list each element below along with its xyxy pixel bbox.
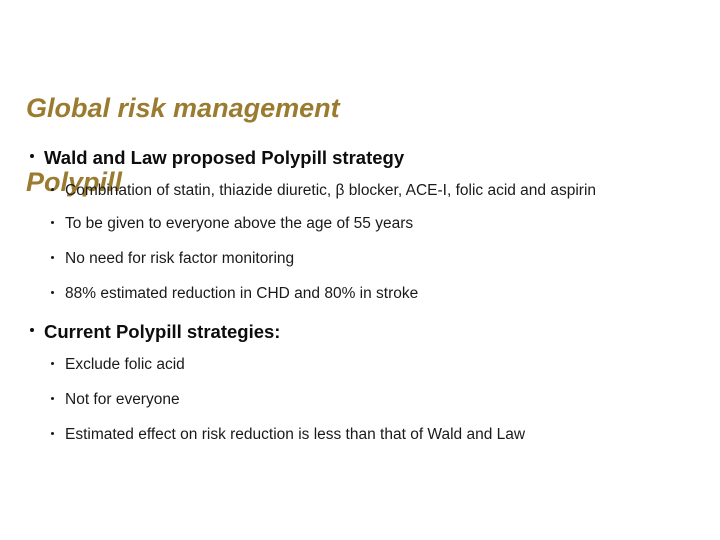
bullet-text: Combination of statin, thiazide diuretic…: [65, 182, 596, 199]
bullet-level2-age-55: To be given to everyone above the age of…: [0, 213, 720, 234]
bullet-level2-reduction-estimates: 88% estimated reduction in CHD and 80% i…: [0, 283, 720, 304]
bullet-dot-icon: [30, 154, 34, 158]
bullet-level2-combination: Combination of statin, thiazide diuretic…: [0, 180, 720, 201]
slide-body: Wald and Law proposed Polypill strategy …: [0, 146, 720, 459]
bullet-level2-not-for-everyone: Not for everyone: [0, 389, 720, 410]
bullet-level1-wald-and-law: Wald and Law proposed Polypill strategy: [0, 146, 720, 170]
bullet-dot-icon: [51, 291, 54, 294]
bullet-text: Current Polypill strategies:: [44, 321, 280, 342]
bullet-dot-icon: [51, 221, 54, 224]
bullet-level2-no-monitoring: No need for risk factor monitoring: [0, 248, 720, 269]
bullet-dot-icon: [51, 256, 54, 259]
bullet-level2-exclude-folic-acid: Exclude folic acid: [0, 354, 720, 375]
bullet-dot-icon: [51, 188, 54, 191]
bullet-text: Not for everyone: [65, 391, 180, 408]
slide-canvas: Global risk management Polypill Wald and…: [0, 0, 720, 540]
bullet-dot-icon: [51, 432, 54, 435]
bullet-text: Exclude folic acid: [65, 356, 185, 373]
bullet-level1-current-strategies: Current Polypill strategies:: [0, 320, 720, 344]
bullet-dot-icon: [51, 362, 54, 365]
bullet-text: 88% estimated reduction in CHD and 80% i…: [65, 285, 418, 302]
bullet-text: Estimated effect on risk reduction is le…: [65, 426, 525, 443]
bullet-level2-estimated-effect: Estimated effect on risk reduction is le…: [0, 424, 720, 445]
bullet-dot-icon: [51, 397, 54, 400]
bullet-dot-icon: [30, 328, 34, 332]
bullet-text: To be given to everyone above the age of…: [65, 215, 413, 232]
slide-title-line-1: Global risk management: [26, 90, 666, 127]
bullet-text: Wald and Law proposed Polypill strategy: [44, 147, 404, 168]
bullet-text: No need for risk factor monitoring: [65, 250, 294, 267]
